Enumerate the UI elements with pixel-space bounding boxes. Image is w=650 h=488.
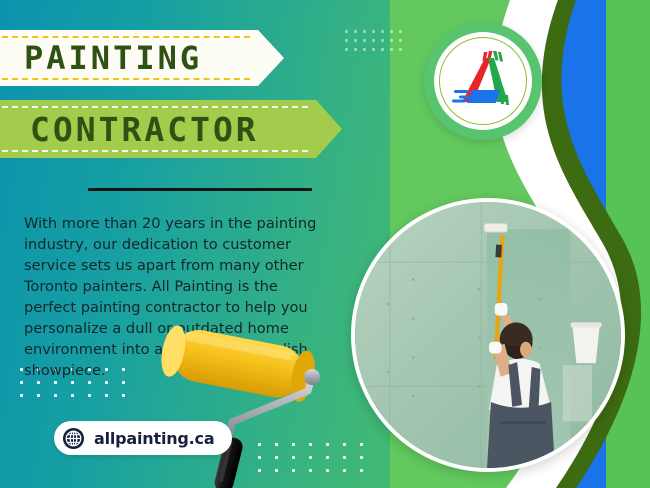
banner-dash-top	[2, 36, 250, 38]
website-url-label: allpainting.ca	[94, 429, 214, 448]
headline-line-2: CONTRACTOR	[30, 110, 259, 149]
globe-icon	[62, 427, 85, 450]
poster-canvas: PAINTING CONTRACTOR With more than 20 ye…	[0, 0, 650, 488]
banner-dash-bottom	[2, 150, 308, 152]
banner-dash-bottom	[2, 78, 250, 80]
divider-rule	[88, 188, 312, 191]
painter-photo	[351, 198, 625, 472]
website-badge[interactable]: allpainting.ca	[54, 421, 232, 455]
roller-sleeve	[160, 325, 319, 404]
painter-photo-art	[355, 202, 621, 468]
headline-banner-contractor: CONTRACTOR	[0, 100, 316, 158]
paint-roller-illustration	[160, 325, 370, 488]
all-painting-logo	[424, 22, 542, 140]
roller-axle	[304, 369, 320, 385]
right-green-strip	[606, 0, 650, 488]
banner-arrow-contractor	[316, 100, 342, 158]
logo-inner-disc	[434, 32, 532, 130]
headline-line-1: PAINTING	[24, 39, 202, 77]
banner-arrow-painting	[258, 30, 284, 86]
dot-grid-top	[345, 30, 408, 57]
logo-ring	[439, 37, 527, 125]
banner-dash-top	[2, 106, 308, 108]
headline-banner-painting: PAINTING	[0, 30, 258, 86]
